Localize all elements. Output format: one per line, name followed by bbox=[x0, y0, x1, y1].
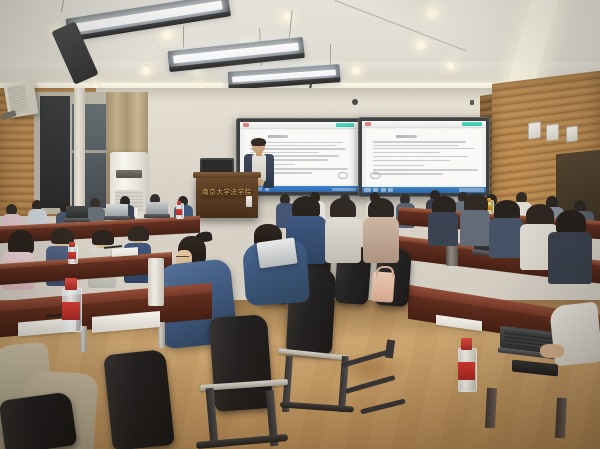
document-title-block bbox=[268, 135, 288, 138]
downlight-icon bbox=[350, 66, 362, 75]
downlight-icon bbox=[424, 6, 441, 19]
tablet[interactable] bbox=[256, 237, 297, 268]
display-screen-right[interactable] bbox=[358, 117, 490, 197]
lamp-wire bbox=[183, 26, 184, 48]
water-bottle[interactable] bbox=[176, 201, 182, 219]
document-icon bbox=[370, 172, 380, 179]
rolled-paper[interactable] bbox=[148, 258, 164, 306]
document-tab-icon bbox=[365, 122, 371, 125]
wall-control-panel[interactable] bbox=[528, 121, 541, 140]
document-accent-badge bbox=[462, 122, 482, 126]
downlight-icon bbox=[160, 28, 175, 40]
ceiling-sensor-icon bbox=[470, 100, 474, 105]
lecture-hall-photo: 南京大学法学院 bbox=[0, 0, 600, 449]
ceiling-camera-icon bbox=[352, 99, 358, 105]
handbag-strap bbox=[376, 266, 394, 277]
laptop[interactable] bbox=[64, 206, 90, 222]
laptop[interactable] bbox=[144, 202, 170, 218]
display-right-content bbox=[362, 121, 486, 193]
wall-control-panel[interactable] bbox=[546, 123, 559, 142]
water-bottle[interactable] bbox=[68, 242, 76, 264]
downlight-icon bbox=[140, 66, 152, 75]
document-tab-icon bbox=[243, 123, 249, 126]
hand bbox=[540, 344, 564, 358]
office-chair-foreground-2[interactable] bbox=[103, 349, 175, 449]
desk-leg bbox=[485, 388, 497, 428]
office-chair-foreground-left[interactable] bbox=[0, 391, 77, 449]
document-page bbox=[366, 129, 483, 185]
downlight-icon bbox=[414, 40, 427, 50]
document-title-block bbox=[396, 135, 417, 138]
office-chair-foreground-center[interactable] bbox=[209, 314, 273, 412]
glasses-icon bbox=[176, 256, 189, 259]
document-accent-badge bbox=[336, 123, 355, 127]
desk-leg bbox=[555, 398, 567, 438]
wall-control-panel[interactable] bbox=[566, 125, 578, 142]
cup[interactable] bbox=[134, 208, 139, 217]
laptop[interactable] bbox=[104, 204, 130, 220]
glasses-icon bbox=[252, 145, 265, 148]
water-bottle[interactable] bbox=[62, 278, 80, 332]
document-icon bbox=[338, 172, 348, 179]
water-bottle[interactable] bbox=[458, 338, 475, 392]
downlight-icon bbox=[445, 62, 456, 70]
